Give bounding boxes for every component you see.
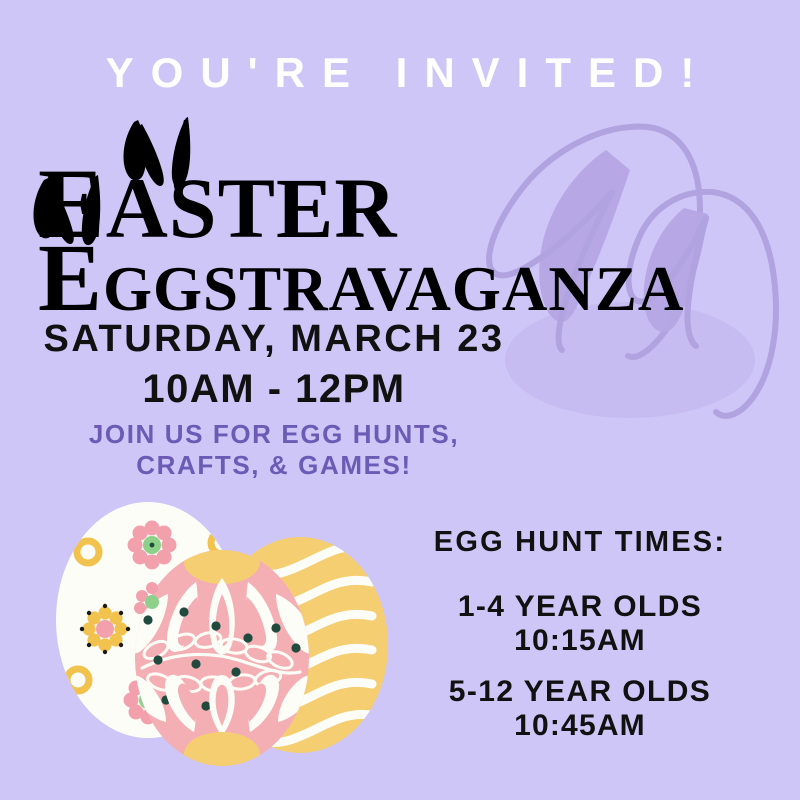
title-line2-cap: E	[38, 224, 103, 331]
egg-hunt-heading: EGG HUNT TIMES:	[400, 528, 760, 557]
egg-hunt-session-1-ages: 1-4 YEAR OLDS	[400, 590, 760, 624]
event-time: 10AM - 12PM	[0, 369, 548, 409]
kicker-text: YOU'RE INVITED!	[0, 52, 800, 94]
egg-pink	[128, 540, 316, 776]
page-title: EASTER EGGSTRAVAGANZA	[38, 158, 598, 320]
egg-white	[56, 502, 253, 738]
title-line1-rest: ASTER	[106, 160, 398, 256]
event-blurb-line-2: CRAFTS, & GAMES!	[0, 450, 548, 481]
egg-yellow	[200, 537, 388, 753]
easter-invitation-poster: YOU'RE INVITED! EASTER EGGSTRAVAGANZA SA…	[0, 0, 800, 800]
event-date: SATURDAY, MARCH 23	[0, 320, 548, 358]
event-blurb: JOIN US FOR EGG HUNTS, CRAFTS, & GAMES!	[0, 419, 548, 480]
title-line-eggstravaganza: EGGSTRAVAGANZA	[38, 244, 598, 320]
title-line-easter: EASTER	[38, 158, 598, 250]
title-line2-rest: GGSTRAVAGANZA	[103, 254, 684, 324]
event-blurb-line-1: JOIN US FOR EGG HUNTS,	[0, 419, 548, 450]
egg-hunt-session-2-time: 10:45AM	[400, 709, 760, 743]
egg-hunt-session-1-time: 10:15AM	[400, 624, 760, 658]
egg-hunt-session-1: 1-4 YEAR OLDS 10:15AM	[400, 590, 760, 657]
egg-hunt-session-2: 5-12 YEAR OLDS 10:45AM	[400, 675, 760, 742]
egg-hunt-session-2-ages: 5-12 YEAR OLDS	[400, 675, 760, 709]
